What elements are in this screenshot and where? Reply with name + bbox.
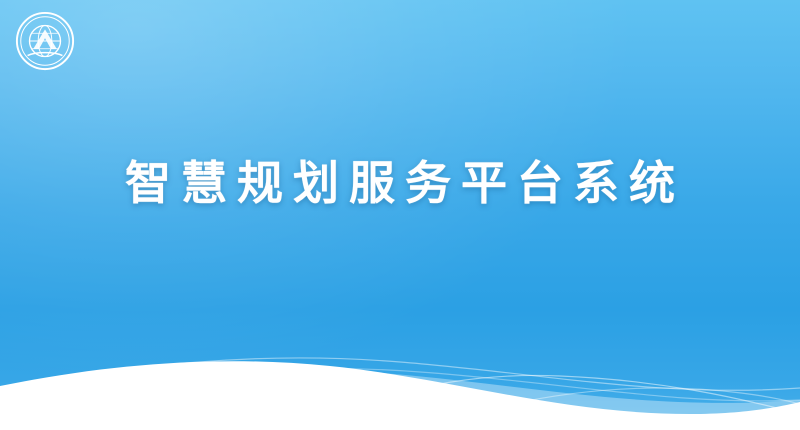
planning-emblem-icon (14, 10, 76, 72)
page-title: 智慧规划服务平台系统 (0, 152, 800, 214)
splash-screen: 智慧规划服务平台系统 (0, 0, 800, 430)
wave-decoration (0, 280, 800, 430)
